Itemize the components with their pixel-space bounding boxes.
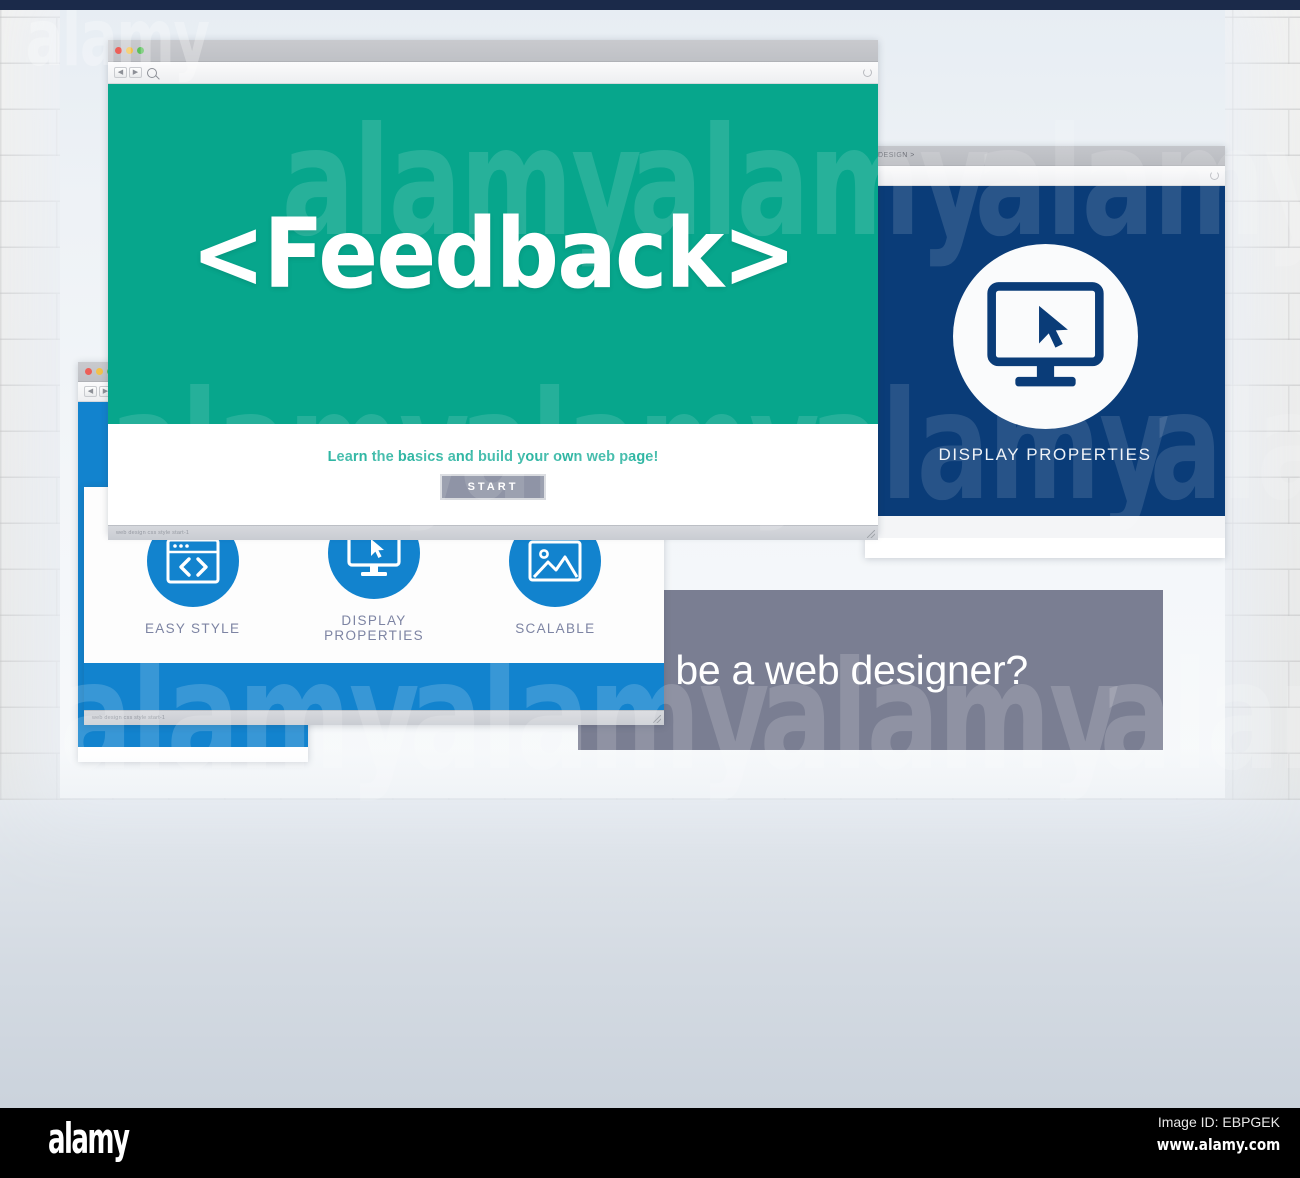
browser-toolbar[interactable]: ◀ ▶ <box>108 62 878 84</box>
window-footer: web design css style start-1 <box>84 710 664 725</box>
hero-subtitle-area: Learn the basics and build your own web … <box>108 424 878 525</box>
feature-label: SCALABLE <box>473 621 638 636</box>
start-button[interactable]: START <box>440 474 547 500</box>
alamy-logo: alamy <box>48 1114 128 1163</box>
window-white-footer <box>865 516 1225 538</box>
reload-icon[interactable] <box>863 68 872 77</box>
audience-crowd <box>0 748 1300 1108</box>
window-title-text: DESIGN > <box>878 152 915 159</box>
window-title-bar[interactable] <box>108 40 878 62</box>
page-title: <Feedback> <box>191 198 794 310</box>
image-id-text: Image ID: EBPGEK <box>1158 1114 1280 1130</box>
back-icon[interactable]: ◀ <box>114 67 127 78</box>
search-icon[interactable] <box>147 68 157 78</box>
forward-icon[interactable]: ▶ <box>129 67 142 78</box>
alamy-url-text: www.alamy.com <box>1156 1135 1280 1154</box>
panel-label: DISPLAY PROPERTIES <box>938 445 1151 465</box>
feedback-window[interactable]: ◀ ▶ <Feedback> Learn the basics and buil… <box>108 40 878 535</box>
web-designer-banner: nt to be a web designer? <box>578 590 1163 750</box>
window-title-bar[interactable]: DESIGN > <box>865 146 1225 166</box>
nav-buttons[interactable]: ◀ ▶ <box>114 67 142 78</box>
subtitle-text: Learn the basics and build your own web … <box>328 449 659 465</box>
scene-stage: ◀ ▶ <box>0 0 1300 1108</box>
close-icon[interactable] <box>85 368 92 375</box>
address-bar[interactable] <box>162 67 858 78</box>
features-window-blue-bar <box>84 663 664 710</box>
footer-text: web design css style start-1 <box>116 530 189 536</box>
window-footer: web design css style start-1 <box>108 525 878 540</box>
feature-label: DISPLAY PROPERTIES <box>291 613 456 643</box>
display-properties-panel: DISPLAY PROPERTIES <box>865 186 1225 516</box>
back-icon[interactable]: ◀ <box>84 386 97 397</box>
minimize-icon[interactable] <box>126 47 133 54</box>
display-properties-window[interactable]: DESIGN > DISPLAY PROPERTIES <box>865 146 1225 558</box>
resize-grip[interactable] <box>867 530 875 538</box>
monitor-cursor-icon <box>953 244 1138 429</box>
feature-label: EASY STYLE <box>110 621 275 636</box>
browser-toolbar[interactable] <box>865 166 1225 186</box>
close-icon[interactable] <box>115 47 122 54</box>
zoom-icon[interactable] <box>137 47 144 54</box>
address-bar[interactable] <box>871 170 1205 181</box>
resize-grip[interactable] <box>653 715 661 723</box>
hero-banner: <Feedback> <box>108 84 878 424</box>
alamy-watermark-bar: alamy Image ID: EBPGEK www.alamy.com <box>0 1108 1300 1178</box>
traffic-light-dots[interactable] <box>115 47 144 54</box>
reload-icon[interactable] <box>1210 171 1219 180</box>
top-edge-strip <box>0 0 1300 10</box>
footer-text: web design css style start-1 <box>92 715 165 721</box>
minimize-icon[interactable] <box>96 368 103 375</box>
